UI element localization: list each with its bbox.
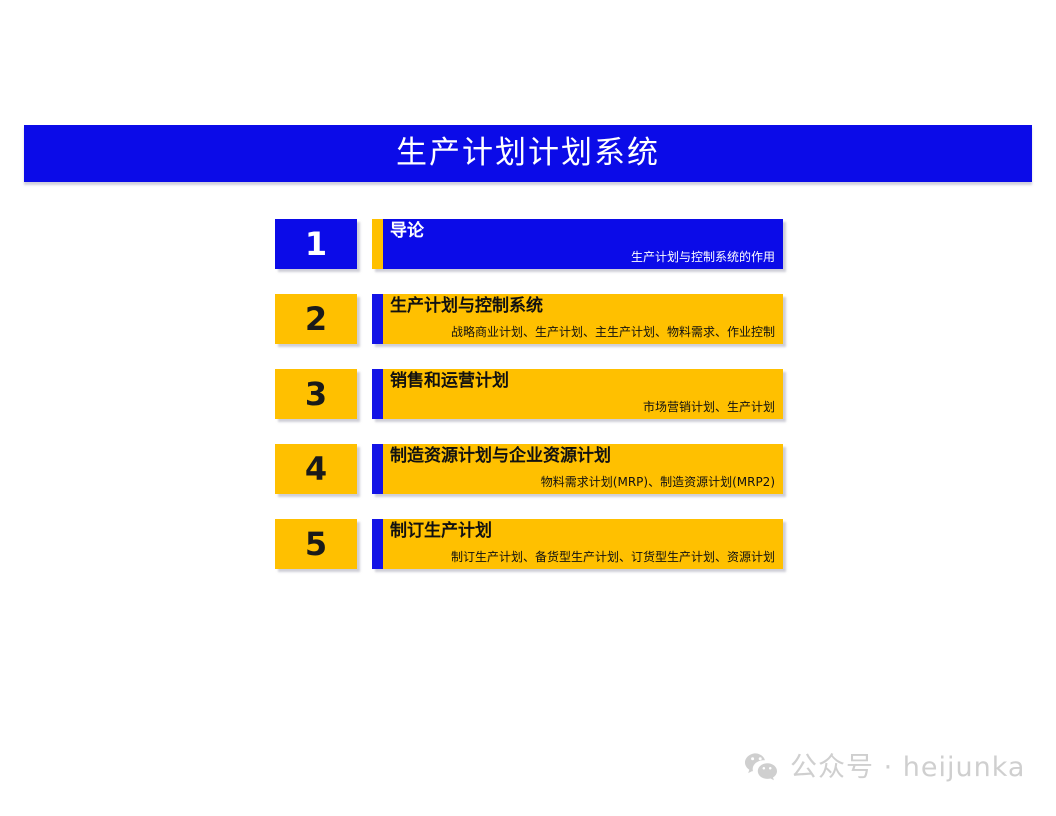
agenda-title-4: 制造资源计划与企业资源计划	[390, 447, 611, 467]
agenda-content-box-2[interactable]: 生产计划与控制系统 战略商业计划、生产计划、主生产计划、物料需求、作业控制	[372, 294, 783, 344]
agenda-content-box-4[interactable]: 制造资源计划与企业资源计划 物料需求计划(MRP)、制造资源计划(MRP2)	[372, 444, 783, 494]
agenda-row-5[interactable]: 5 制订生产计划 制订生产计划、备货型生产计划、订货型生产计划、资源计划	[275, 519, 785, 569]
accent-bar-4	[372, 444, 383, 494]
agenda-text-wrap-1: 导论 生产计划与控制系统的作用	[390, 219, 775, 269]
agenda-number-4: 4	[305, 453, 327, 485]
agenda-title-1: 导论	[390, 222, 424, 242]
agenda-row-3[interactable]: 3 销售和运营计划 市场营销计划、生产计划	[275, 369, 785, 419]
agenda-number-5: 5	[305, 528, 327, 560]
agenda-list: 1 导论 生产计划与控制系统的作用 2 生产计划与控制系统 战略商业计划、生产计…	[275, 219, 785, 569]
agenda-text-wrap-4: 制造资源计划与企业资源计划 物料需求计划(MRP)、制造资源计划(MRP2)	[390, 444, 775, 494]
accent-bar-2	[372, 294, 383, 344]
agenda-number-box-3: 3	[275, 369, 357, 419]
slide-canvas: 生产计划计划系统 1 导论 生产计划与控制系统的作用 2 生产计划	[0, 0, 1056, 816]
agenda-title-3: 销售和运营计划	[390, 372, 509, 392]
agenda-number-box-5: 5	[275, 519, 357, 569]
accent-bar-1	[372, 219, 383, 269]
agenda-content-box-5[interactable]: 制订生产计划 制订生产计划、备货型生产计划、订货型生产计划、资源计划	[372, 519, 783, 569]
agenda-number-1: 1	[305, 228, 327, 260]
agenda-subtitle-1: 生产计划与控制系统的作用	[631, 251, 775, 265]
slide-title-bar: 生产计划计划系统	[24, 125, 1032, 182]
agenda-subtitle-5: 制订生产计划、备货型生产计划、订货型生产计划、资源计划	[451, 551, 775, 565]
accent-bar-5	[372, 519, 383, 569]
agenda-number-2: 2	[305, 303, 327, 335]
watermark-label: 公众号 · heijunka	[790, 754, 1025, 781]
accent-bar-3	[372, 369, 383, 419]
agenda-text-wrap-2: 生产计划与控制系统 战略商业计划、生产计划、主生产计划、物料需求、作业控制	[390, 294, 775, 344]
agenda-subtitle-2: 战略商业计划、生产计划、主生产计划、物料需求、作业控制	[451, 326, 775, 340]
agenda-text-wrap-5: 制订生产计划 制订生产计划、备货型生产计划、订货型生产计划、资源计划	[390, 519, 775, 569]
watermark: 公众号 · heijunka	[744, 752, 1025, 782]
agenda-title-5: 制订生产计划	[390, 522, 492, 542]
agenda-row-4[interactable]: 4 制造资源计划与企业资源计划 物料需求计划(MRP)、制造资源计划(MRP2)	[275, 444, 785, 494]
agenda-row-2[interactable]: 2 生产计划与控制系统 战略商业计划、生产计划、主生产计划、物料需求、作业控制	[275, 294, 785, 344]
agenda-number-3: 3	[305, 378, 327, 410]
agenda-content-box-1[interactable]: 导论 生产计划与控制系统的作用	[372, 219, 783, 269]
agenda-content-box-3[interactable]: 销售和运营计划 市场营销计划、生产计划	[372, 369, 783, 419]
agenda-row-1[interactable]: 1 导论 生产计划与控制系统的作用	[275, 219, 785, 269]
agenda-number-box-2: 2	[275, 294, 357, 344]
agenda-number-box-1: 1	[275, 219, 357, 269]
page-title: 生产计划计划系统	[396, 138, 660, 169]
wechat-icon	[744, 752, 778, 782]
agenda-text-wrap-3: 销售和运营计划 市场营销计划、生产计划	[390, 369, 775, 419]
agenda-subtitle-3: 市场营销计划、生产计划	[643, 401, 775, 415]
agenda-number-box-4: 4	[275, 444, 357, 494]
agenda-subtitle-4: 物料需求计划(MRP)、制造资源计划(MRP2)	[541, 476, 775, 490]
agenda-title-2: 生产计划与控制系统	[390, 297, 543, 317]
